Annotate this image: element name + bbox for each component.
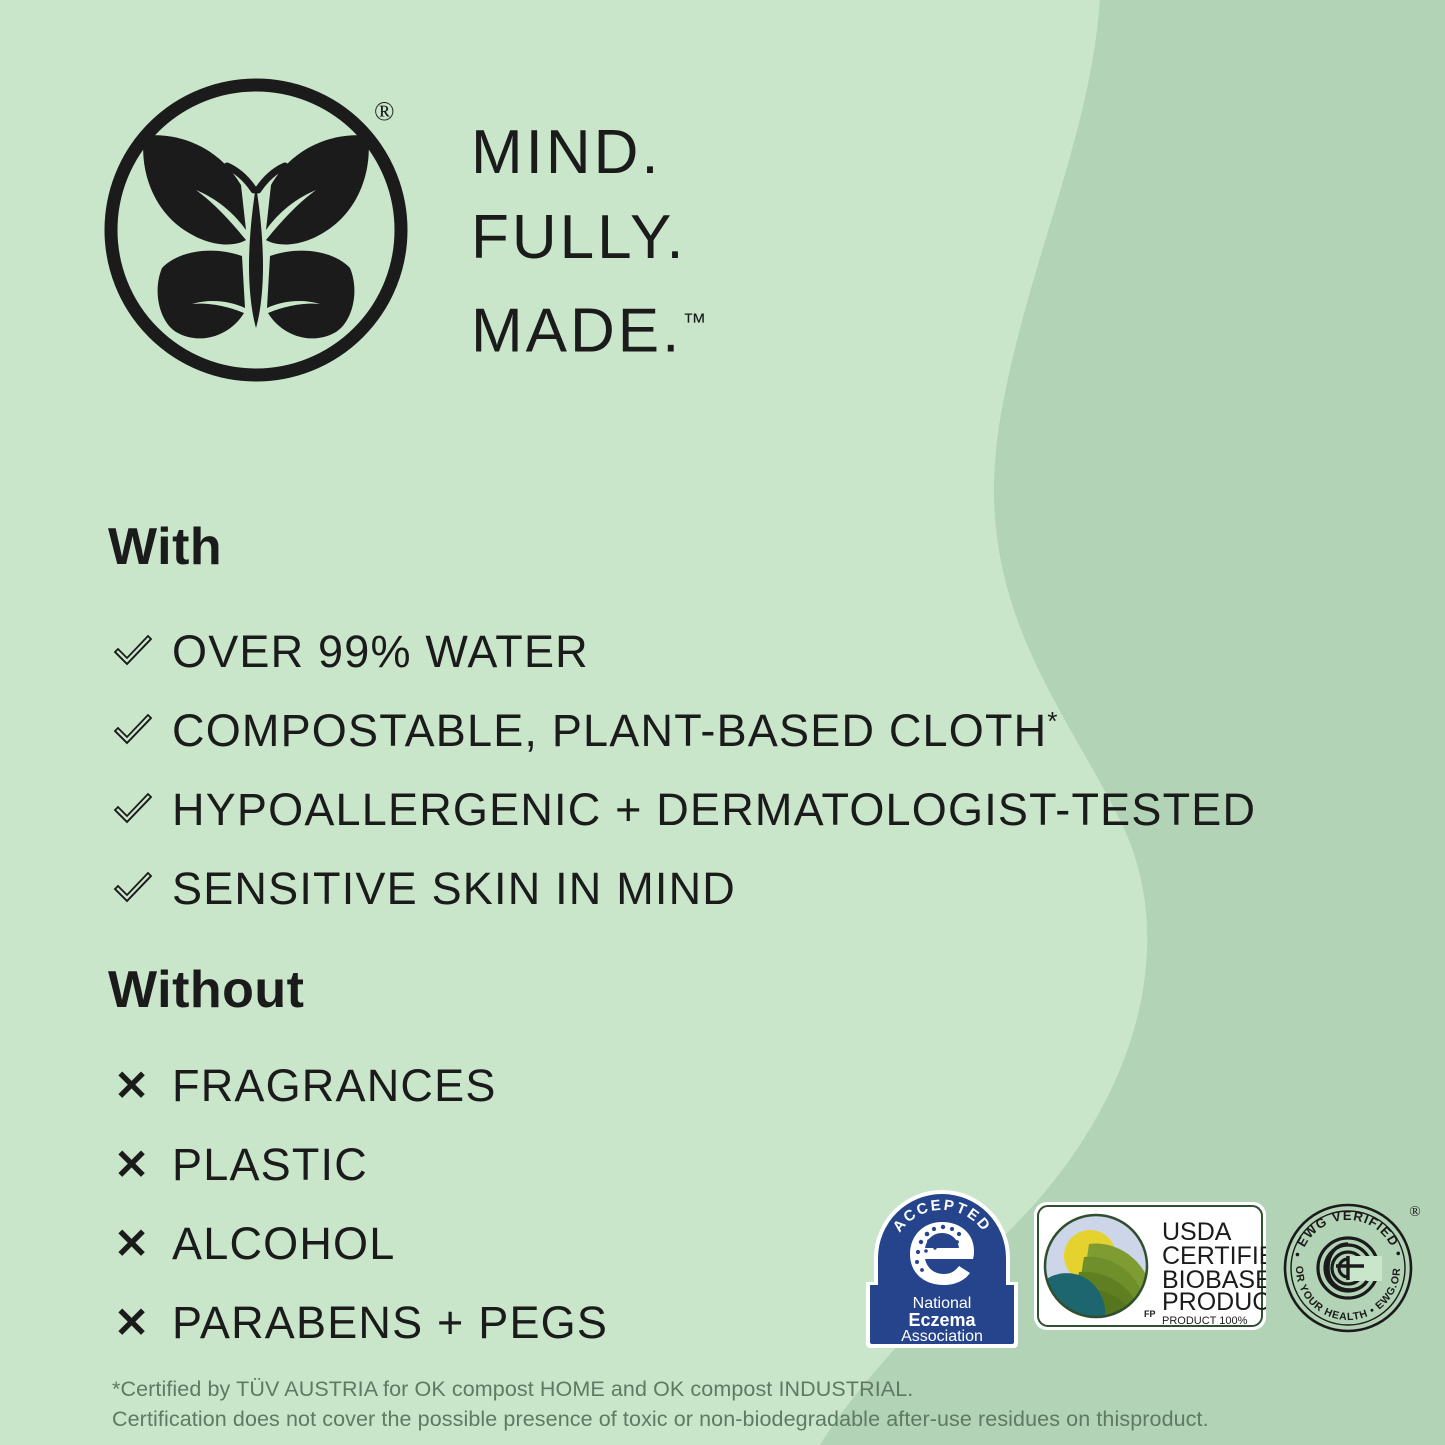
brand-line-3-wrapper: MADE.™ (471, 280, 841, 374)
list-item-label: COMPOSTABLE, PLANT-BASED CLOTH* (172, 705, 1059, 757)
x-icon: ✕ (112, 1065, 172, 1107)
footnote: *Certified by TÜV AUSTRIA for OK compost… (112, 1374, 1352, 1434)
registered-trademark-symbol: ® (374, 96, 395, 127)
list-item: HYPOALLERGENIC + DERMATOLOGIST-TESTED (112, 770, 1322, 849)
trademark-symbol: ™ (682, 309, 706, 336)
certification-badges: ACCEPTED National (866, 1186, 1431, 1346)
usda-corner-mark: FP (1144, 1309, 1156, 1319)
list-item-label: PARABENS + PEGS (172, 1297, 608, 1349)
usda-subline: PRODUCT 100% (1162, 1315, 1248, 1327)
nea-line-3: Association (901, 1328, 983, 1345)
list-item-label: FRAGRANCES (172, 1060, 497, 1112)
list-item-label: HYPOALLERGENIC + DERMATOLOGIST-TESTED (172, 784, 1256, 836)
list-item: SENSITIVE SKIN IN MIND (112, 849, 1322, 928)
product-claims-infographic: ® MIND. FULLY. MADE.™ With OVER 99% WATE… (0, 0, 1445, 1445)
list-item-label: SENSITIVE SKIN IN MIND (172, 863, 736, 915)
without-section-heading: Without (108, 960, 305, 1020)
brand-lockup: ® MIND. FULLY. MADE.™ (96, 70, 836, 400)
brand-wordmark: MIND. FULLY. MADE.™ (471, 110, 841, 374)
footnote-line-2: Certification does not cover the possibl… (112, 1404, 1352, 1434)
check-icon (112, 714, 172, 748)
national-eczema-association-badge: ACCEPTED National (866, 1186, 1018, 1348)
with-claims-list: OVER 99% WATER COMPOSTABLE, PLANT-BASED … (112, 612, 1322, 928)
list-item-label: OVER 99% WATER (172, 626, 589, 678)
x-icon: ✕ (112, 1223, 172, 1265)
usda-line-4: PRODUCT (1162, 1288, 1266, 1316)
butterfly-in-circle-logo (96, 70, 416, 390)
ewg-verified-badge: • EWG VERIFIED • FOR YOUR HEALTH • EWG.O… (1276, 1186, 1431, 1341)
x-icon: ✕ (112, 1144, 172, 1186)
ewg-registered-mark: ® (1409, 1204, 1420, 1220)
brand-line-1: MIND. (471, 110, 841, 195)
usda-certified-biobased-product-badge: FP USDA CERTIFIED BIOBASED PRODUCT PRODU… (1034, 1202, 1266, 1330)
check-icon (112, 635, 172, 669)
x-icon: ✕ (112, 1302, 172, 1344)
check-icon (112, 872, 172, 906)
check-icon (112, 793, 172, 827)
nea-line-2: Eczema (908, 1310, 976, 1330)
list-item: ✕ FRAGRANCES (112, 1046, 1322, 1125)
brand-line-2: FULLY. (471, 195, 841, 280)
brand-line-3: MADE. (471, 297, 682, 366)
list-item: COMPOSTABLE, PLANT-BASED CLOTH* (112, 691, 1322, 770)
with-section-heading: With (108, 517, 222, 577)
footnote-line-1: *Certified by TÜV AUSTRIA for OK compost… (112, 1374, 1352, 1404)
list-item: OVER 99% WATER (112, 612, 1322, 691)
list-item-label: ALCOHOL (172, 1218, 395, 1270)
list-item-label: PLASTIC (172, 1139, 368, 1191)
